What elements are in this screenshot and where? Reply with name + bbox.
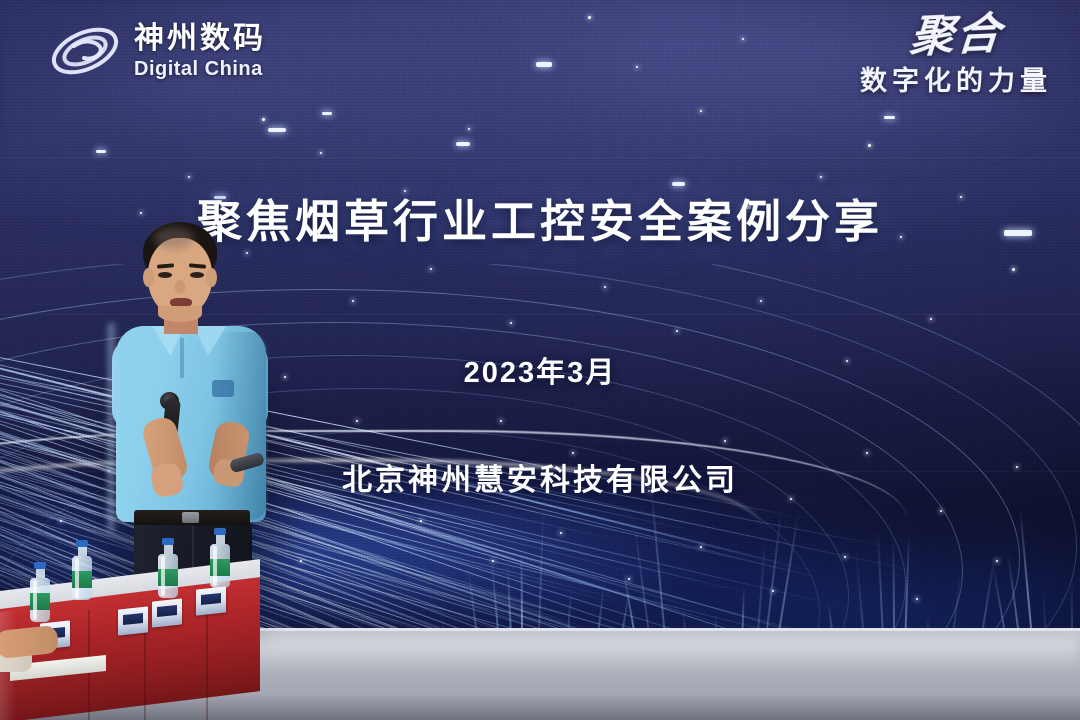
sparkle-dot <box>742 38 744 40</box>
event-calligraphy: 聚合 <box>858 10 1054 62</box>
sparkle-dot <box>866 452 868 454</box>
speaker-ear-right <box>206 268 217 287</box>
sparkle-dot <box>188 176 190 178</box>
sparkle-dot <box>356 420 358 422</box>
bottle-cap <box>76 540 88 547</box>
sparkle-dot <box>760 300 762 302</box>
sparkle-dot <box>636 66 638 68</box>
shirt-placket <box>180 338 184 378</box>
sparkle-dot <box>320 152 322 154</box>
bottle-body <box>158 554 178 598</box>
sparkle-dash <box>884 116 895 119</box>
sparkle-dot <box>700 110 702 112</box>
bottle-cap <box>214 528 226 535</box>
event-subtitle: 数字化的力量 <box>860 68 1052 95</box>
sparkle-dash <box>456 142 470 146</box>
name-card <box>152 598 182 627</box>
bottle-cap <box>162 538 174 545</box>
sparkle-dash <box>322 112 332 115</box>
water-bottle <box>158 538 178 598</box>
bottle-cap <box>34 562 46 569</box>
name-card-text <box>157 605 177 617</box>
bottle-neck <box>216 535 225 544</box>
speaker-ear-left <box>143 268 154 287</box>
bottle-body <box>210 544 230 588</box>
name-card-text <box>201 593 221 605</box>
sparkle-dot <box>60 520 62 522</box>
sparkle-dot <box>560 532 562 534</box>
bottle-neck <box>78 547 87 556</box>
bottle-highlight <box>75 558 79 598</box>
conference-photo: 神州数码 Digital China 聚合 数字化的力量 聚焦烟草行业工控安全案… <box>0 0 1080 720</box>
sparkle-dot <box>916 598 918 600</box>
name-card <box>118 606 148 635</box>
bottle-neck <box>36 569 45 578</box>
sparkle-dot <box>940 510 942 512</box>
hair-highlight <box>154 227 194 249</box>
sparkle-dot <box>510 322 512 324</box>
digital-china-logo: 神州数码 Digital China <box>48 20 266 82</box>
speaker-rim-light <box>108 322 118 532</box>
speaker-nose <box>175 280 185 294</box>
sparkle-dot <box>352 300 354 302</box>
shirt-chest-logo <box>212 380 234 397</box>
sparkle-dash <box>96 150 106 153</box>
speaker-eye-right <box>190 272 204 278</box>
sparkle-dot <box>262 118 265 121</box>
logo-chinese-text: 神州数码 <box>134 24 266 54</box>
bottle-highlight <box>213 546 217 586</box>
sparkle-dot <box>572 452 574 454</box>
sparkle-dot <box>300 560 302 562</box>
logo-english-text: Digital China <box>134 59 266 79</box>
name-card-text <box>123 613 143 625</box>
sparkle-dot <box>468 128 470 130</box>
bottle-highlight <box>161 556 165 596</box>
sparkle-dot <box>430 268 432 270</box>
panel-seam <box>0 157 1080 158</box>
water-bottle <box>210 528 230 588</box>
bottle-highlight <box>33 580 37 620</box>
sparkle-dot <box>604 286 606 288</box>
sparkle-dot <box>844 556 846 558</box>
bottle-body <box>30 578 50 622</box>
belt-buckle <box>182 512 199 523</box>
bottle-neck <box>164 545 173 554</box>
bottle-body <box>72 556 92 600</box>
sparkle-dash <box>268 128 286 132</box>
sparkle-dot <box>1012 268 1015 271</box>
sparkle-dot <box>588 16 591 19</box>
sparkle-dot <box>700 546 702 548</box>
sparkle-dot <box>772 590 774 592</box>
water-bottle <box>30 562 50 622</box>
water-bottle <box>72 540 92 600</box>
speaker-chin <box>158 306 202 322</box>
skirt-fold <box>206 610 208 720</box>
sparkle-dot <box>628 578 630 580</box>
sparkle-dot <box>500 420 502 422</box>
speaker-eye-left <box>158 272 172 278</box>
event-logo: 聚合 数字化的力量 <box>860 14 1052 95</box>
sparkle-dot <box>996 560 998 562</box>
sparkle-dot <box>492 560 494 562</box>
sparkle-dot <box>420 520 422 522</box>
sparkle-dot <box>676 330 678 332</box>
name-card <box>196 586 226 615</box>
sparkle-dot <box>930 318 932 320</box>
digital-china-swirl-icon <box>48 20 122 82</box>
sparkle-dot <box>724 440 726 442</box>
sparkle-dot <box>820 176 822 178</box>
sparkle-dot <box>868 144 871 147</box>
sparkle-dash <box>536 62 552 67</box>
